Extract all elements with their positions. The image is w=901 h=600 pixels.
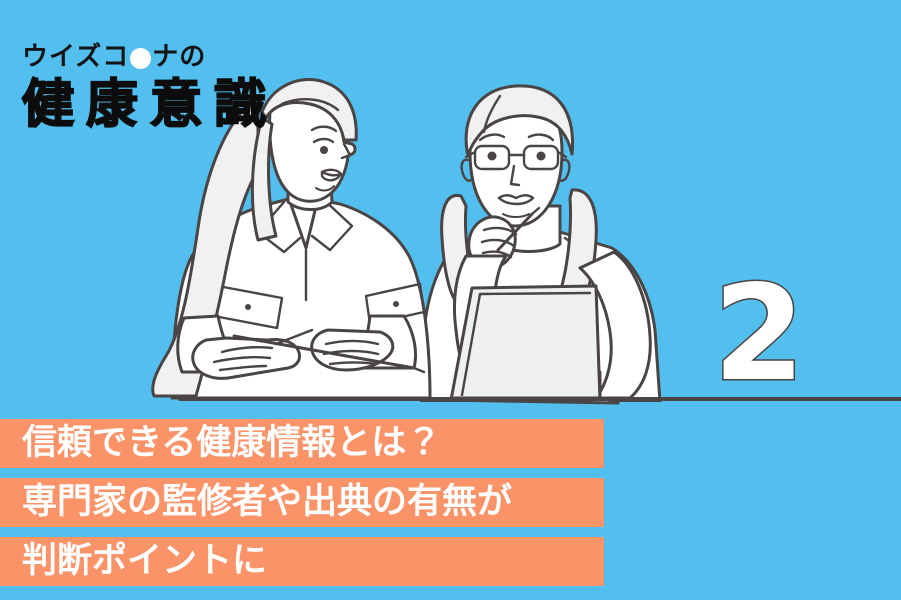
headline-kicker: ウイズコ ナの bbox=[22, 44, 278, 70]
caption-text: 判断ポイントに bbox=[22, 544, 267, 579]
kicker-text-after: ナの bbox=[152, 44, 206, 70]
page-title: 健康意識 bbox=[22, 79, 278, 132]
episode-number: 2 bbox=[713, 268, 805, 400]
headline-block: ウイズコ ナの 健康意識 bbox=[22, 44, 278, 132]
caption-bar: 信頼できる健康情報とは？ bbox=[0, 419, 604, 468]
caption-text: 信頼できる健康情報とは？ bbox=[22, 426, 441, 461]
caption-text: 専門家の監修者や出典の有無が bbox=[22, 485, 512, 520]
kicker-text-before: ウイズコ bbox=[22, 44, 129, 70]
caption-bar: 判断ポイントに bbox=[0, 537, 604, 586]
censor-dot-icon bbox=[130, 48, 151, 69]
poster-canvas: .ln { fill:none; stroke:#4a4444; stroke-… bbox=[0, 0, 901, 600]
caption-bar: 専門家の監修者や出典の有無が bbox=[0, 478, 604, 527]
caption-bar-group: 信頼できる健康情報とは？ 専門家の監修者や出典の有無が 判断ポイントに bbox=[0, 419, 604, 586]
